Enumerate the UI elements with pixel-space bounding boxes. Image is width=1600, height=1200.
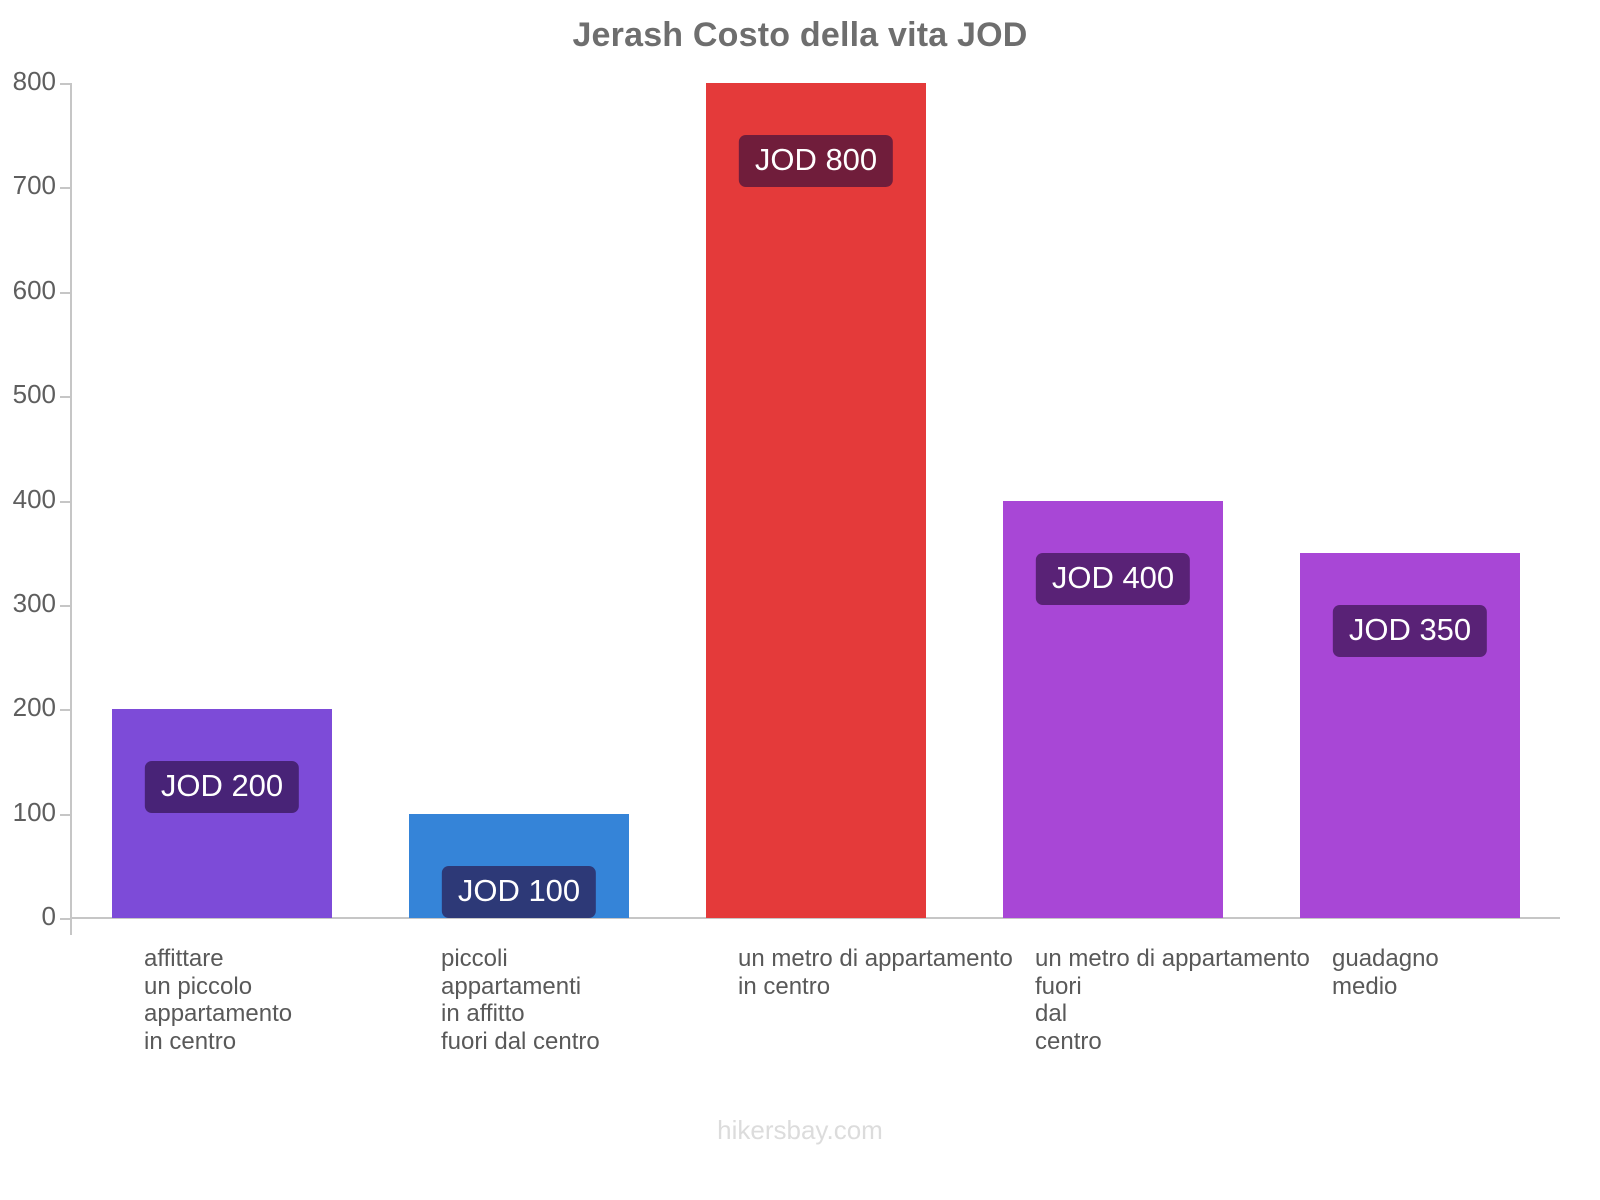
x-axis-category-label: guadagno medio (1332, 945, 1439, 1000)
y-axis-tick-label: 200 (0, 692, 56, 723)
footer-credit: hikersbay.com (0, 1115, 1600, 1146)
bar-value-label: JOD 350 (1333, 605, 1487, 657)
x-axis-category-label: piccoli appartamenti in affitto fuori da… (441, 945, 600, 1055)
y-axis-tick-mark (60, 501, 72, 503)
y-axis-tick-label: 500 (0, 379, 56, 410)
x-axis-category-label: affittare un piccolo appartamento in cen… (144, 945, 292, 1055)
bar[interactable] (112, 709, 332, 918)
y-axis-tick-mark (60, 918, 72, 920)
bar[interactable] (706, 83, 926, 918)
bar-chart: Jerash Costo della vita JOD 010020030040… (0, 0, 1600, 1200)
bar-value-label: JOD 100 (442, 866, 596, 918)
y-axis-tick-label: 400 (0, 484, 56, 515)
y-axis-tick-mark (60, 292, 72, 294)
y-axis-line (70, 83, 72, 935)
bar-value-label: JOD 200 (145, 761, 299, 813)
y-axis-tick-mark (60, 83, 72, 85)
x-axis-category-label: un metro di appartamento fuori dal centr… (1035, 945, 1310, 1055)
y-axis-tick-mark (60, 709, 72, 711)
y-axis-tick-mark (60, 396, 72, 398)
bar-value-label: JOD 400 (1036, 553, 1190, 605)
y-axis-tick-label: 300 (0, 588, 56, 619)
y-axis-tick-mark (60, 814, 72, 816)
y-axis-tick-mark (60, 187, 72, 189)
y-axis-tick-label: 100 (0, 797, 56, 828)
y-axis-tick-label: 600 (0, 275, 56, 306)
y-axis-tick-label: 700 (0, 170, 56, 201)
chart-title: Jerash Costo della vita JOD (0, 16, 1600, 55)
x-axis-category-label: un metro di appartamento in centro (738, 945, 1013, 1000)
bar-value-label: JOD 800 (739, 135, 893, 187)
y-axis-tick-mark (60, 605, 72, 607)
y-axis-tick-label: 800 (0, 66, 56, 97)
y-axis-tick-label: 0 (0, 901, 56, 932)
